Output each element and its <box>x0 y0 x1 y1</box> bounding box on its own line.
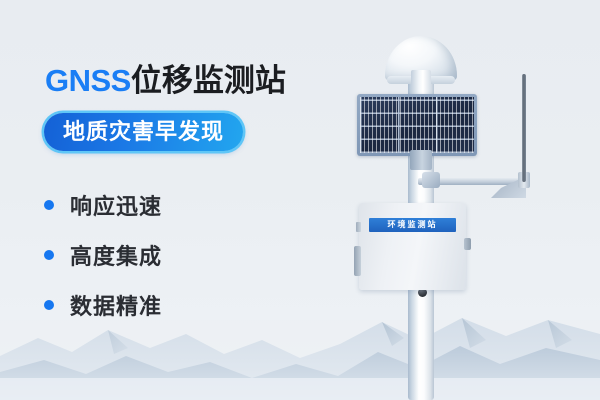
tagline-badge: 地质灾害早发现 <box>44 113 243 151</box>
bullet-dot-icon <box>44 300 54 310</box>
cabinet-latch-left <box>356 222 361 232</box>
cabinet-hinge <box>354 246 361 276</box>
list-item: 数据精准 <box>44 280 274 330</box>
feature-label: 高度集成 <box>70 239 162 271</box>
cross-arm-hub <box>422 172 440 188</box>
bullet-dot-icon <box>44 200 54 210</box>
solar-panel-cells <box>360 97 474 153</box>
feature-list: 响应迅速 高度集成 数据精准 <box>44 180 274 330</box>
feature-label: 数据精准 <box>70 289 162 321</box>
solar-panel <box>357 94 477 156</box>
feature-label: 响应迅速 <box>70 189 162 221</box>
dome-neck <box>411 70 431 96</box>
cabinet-latch-right <box>464 238 471 250</box>
title-rest: 位移监测站 <box>131 63 286 98</box>
bullet-dot-icon <box>44 250 54 260</box>
solar-panel-mount <box>410 150 432 170</box>
list-item: 响应迅速 <box>44 180 274 230</box>
equipment-cabinet <box>359 203 466 290</box>
page-title: GNSS位移监测站 <box>45 55 286 100</box>
product-banner: GNSS位移监测站 地质灾害早发现 响应迅速 高度集成 数据精准 <box>0 0 600 400</box>
monitoring-station-image: 环境监测站 <box>330 0 600 400</box>
cabinet-label: 环境监测站 <box>369 218 456 232</box>
whip-antenna <box>522 74 526 182</box>
title-brand: GNSS <box>45 63 131 98</box>
list-item: 高度集成 <box>44 230 274 280</box>
